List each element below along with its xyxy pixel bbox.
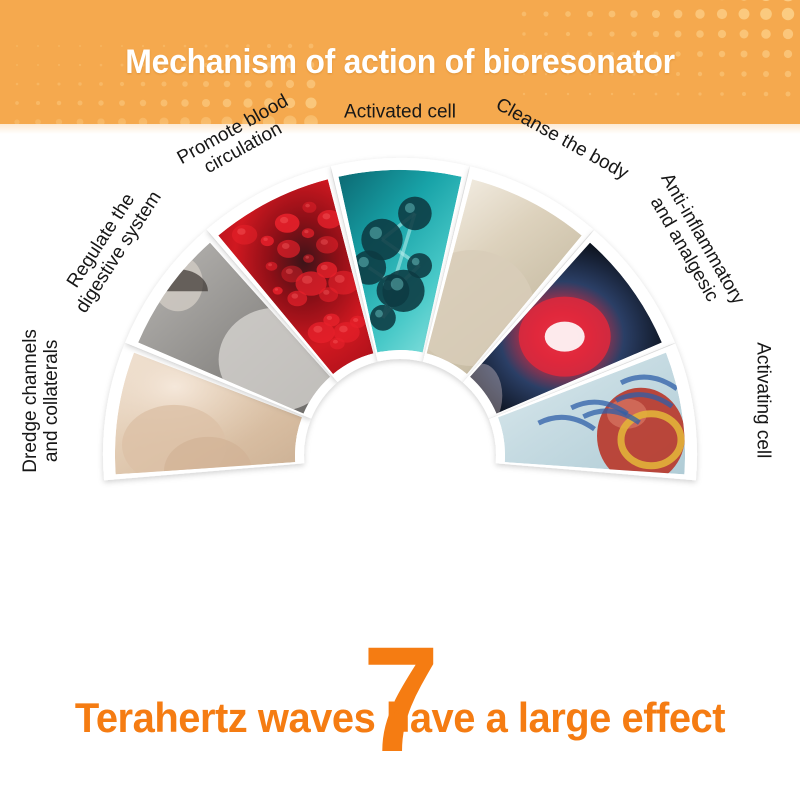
- segment-label-activated-cell: Activated cell: [344, 101, 456, 122]
- segment-label-activating-cell: Activating cell: [752, 342, 773, 458]
- footer-tagline: Terahertz waves have a large effect: [20, 694, 780, 742]
- segment-label-dredge-channels: Dredge channels and collaterals: [20, 329, 63, 473]
